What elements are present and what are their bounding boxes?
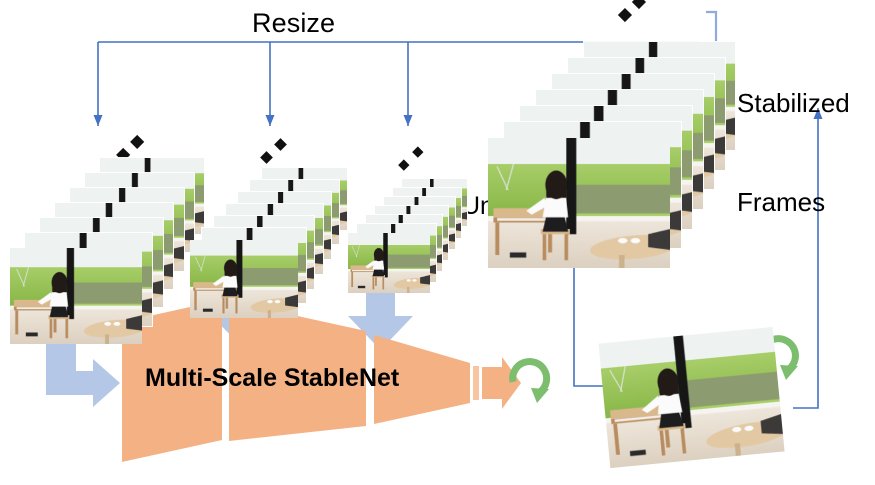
stabilized-output-frame bbox=[598, 327, 784, 468]
ellipsis-dot bbox=[274, 138, 287, 151]
frame-stack-scale-small bbox=[348, 155, 484, 269]
stabilized-frames-label: Stabilized Frames bbox=[737, 20, 850, 286]
frame-stack-scale-medium bbox=[190, 145, 370, 295]
ellipsis-dot bbox=[130, 135, 145, 150]
ellipsis-dot bbox=[412, 146, 423, 157]
resize-label: Resize bbox=[252, 8, 335, 38]
diagram-canvas: Resize Unstable Frame Stabilized Frames … bbox=[0, 0, 875, 485]
frame-front bbox=[348, 233, 430, 293]
frame-stack-unstable bbox=[488, 10, 766, 236]
ellipsis-dot bbox=[398, 159, 409, 170]
stabilized-frames-label-line1: Stabilized bbox=[737, 87, 850, 120]
frame-front bbox=[190, 240, 298, 318]
stabilized-frames-label-line2: Frames bbox=[737, 186, 850, 219]
rotation-marker-output bbox=[513, 362, 549, 403]
frame-front bbox=[488, 138, 670, 268]
network-output-arrow bbox=[473, 357, 521, 409]
ellipsis-dot bbox=[632, 0, 646, 9]
frame-front bbox=[10, 248, 142, 344]
network-label: Multi-Scale StableNet bbox=[145, 364, 399, 393]
ellipsis-dot bbox=[260, 151, 273, 164]
ellipsis-dot bbox=[618, 8, 632, 22]
